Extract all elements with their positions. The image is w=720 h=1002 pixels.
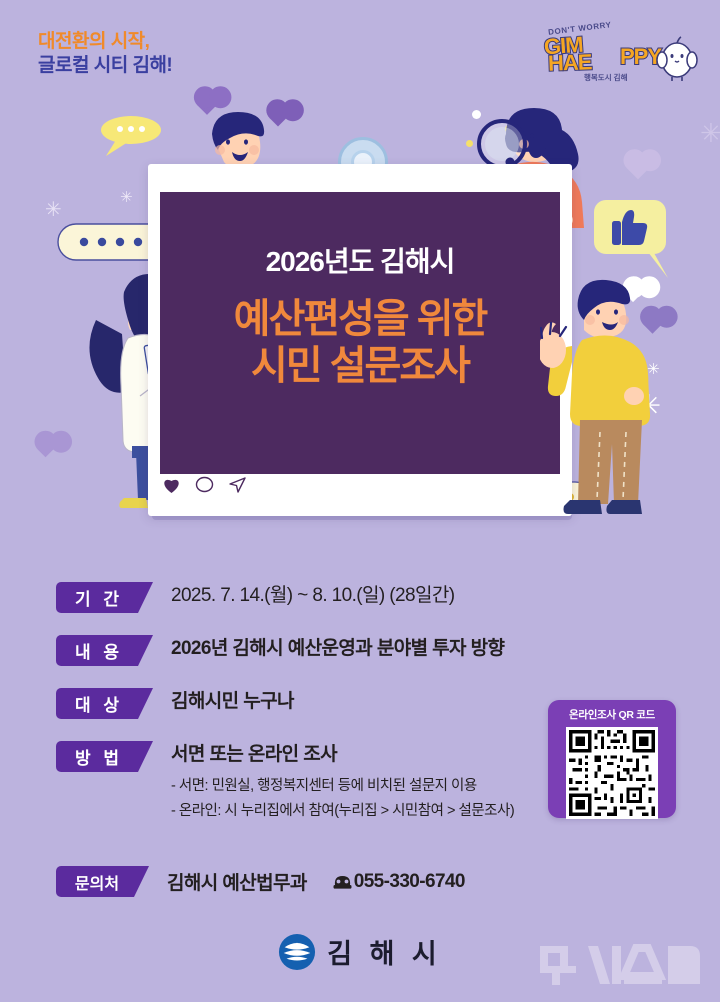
poster-title: 2026년도 김해시 예산편성을 위한 시민 설문조사 — [148, 240, 572, 390]
heart-icon[interactable] — [162, 476, 181, 494]
slogan-line-1: 대전환의 시작, — [38, 30, 172, 54]
info-row-content-body: 2026년 김해시 예산운영과 분야별 투자 방향 — [171, 635, 504, 662]
telephone-icon — [333, 873, 352, 890]
contact-row: 문의처 김해시 예산법무과 055-330-6740 — [56, 866, 465, 897]
speech-bubble-yellow-small — [98, 112, 170, 160]
contact-phone: 055-330-6740 — [333, 871, 465, 893]
city-name: 김 해 시 — [327, 932, 442, 971]
info-row-content: 내 용 2026년 김해시 예산운영과 분야별 투자 방향 — [56, 635, 666, 666]
decor-sparkle-5: ✳ — [120, 190, 133, 205]
contact-body: 김해시 예산법무과 055-330-6740 — [167, 868, 465, 895]
info-row-method-body: 서면 또는 온라인 조사 - 서면: 민원실, 행정복지센터 등에 비치된 설문… — [171, 741, 514, 824]
qr-code-image[interactable] — [566, 727, 658, 819]
send-icon[interactable] — [228, 476, 247, 494]
brand-logo: DON'T WORRY GIM HAE PPY 행복도시 김해 — [524, 22, 704, 88]
info-row-method-sub-1: - 서면: 민원실, 행정복지센터 등에 비치된 설문지 이용 — [171, 775, 514, 798]
qr-title: 온라인조사 QR 코드 — [548, 700, 676, 727]
info-row-period-tag: 기 간 — [56, 582, 138, 613]
info-row-content-tag: 내 용 — [56, 635, 138, 666]
poster-root: ✳ ✳ ✳ ✳ ✳ ✳ 대전환의 시작, 글로컬 시티 김해! DON'T WO… — [0, 0, 720, 1002]
qr-panel[interactable]: 온라인조사 QR 코드 — [548, 700, 676, 818]
info-row-target-tag: 대 상 — [56, 688, 138, 719]
title-line-2: 예산편성을 위한 — [148, 296, 572, 343]
contact-department: 김해시 예산법무과 — [167, 868, 307, 895]
brand-subtitle: 행복도시 김해 — [584, 72, 627, 83]
contact-phone-number: 055-330-6740 — [354, 871, 465, 893]
illustration-man-waving — [540, 272, 668, 530]
social-action-icons — [162, 476, 247, 494]
info-row-content-value: 2026년 김해시 예산운영과 분야별 투자 방향 — [171, 636, 504, 662]
title-line-1: 2026년도 김해시 — [148, 240, 572, 280]
title-line-3: 시민 설문조사 — [148, 343, 572, 390]
contact-tag: 문의처 — [56, 866, 134, 897]
decor-sparkle-6: ✳ — [700, 120, 720, 146]
info-row-target-value: 김해시민 누구나 — [171, 689, 294, 715]
decor-sparkle-1: ✳ — [45, 200, 62, 220]
info-row-period: 기 간 2025. 7. 14.(월) ~ 8. 10.(일) (28일간) — [56, 582, 666, 613]
info-row-method-sub-2: - 온라인: 시 누리집에서 참여(누리집 > 시민참여 > 설문조사) — [171, 800, 514, 823]
slogan: 대전환의 시작, 글로컬 시티 김해! — [38, 30, 172, 79]
chick-mascot-icon — [654, 30, 700, 82]
slogan-line-2: 글로컬 시티 김해! — [38, 54, 172, 78]
info-row-period-value: 2025. 7. 14.(월) ~ 8. 10.(일) (28일간) — [171, 583, 454, 609]
info-row-method-tag: 방 법 — [56, 741, 138, 772]
info-row-target-body: 김해시민 누구나 — [171, 688, 294, 715]
newsis-watermark — [536, 936, 706, 992]
info-row-period-body: 2025. 7. 14.(월) ~ 8. 10.(일) (28일간) — [171, 582, 454, 609]
comment-icon[interactable] — [195, 476, 214, 494]
info-row-method-value: 서면 또는 온라인 조사 — [171, 742, 514, 768]
gimhae-city-emblem-icon — [278, 933, 316, 971]
